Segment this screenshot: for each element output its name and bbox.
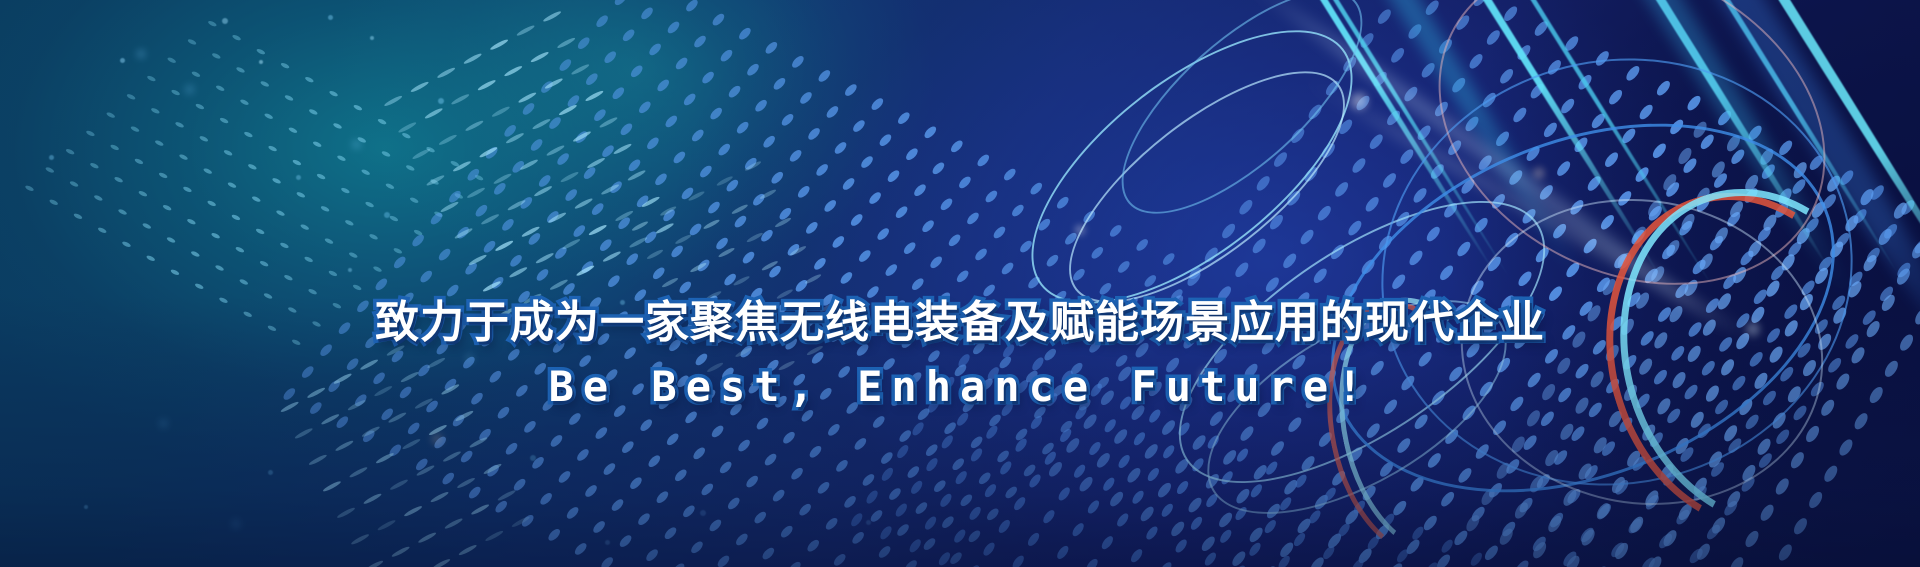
- dot-matrix-dot: [628, 476, 644, 491]
- decoration-dash-layer: [0, 0, 1920, 567]
- dot-matrix-dot: [952, 528, 968, 544]
- dot-matrix-dot: [1678, 446, 1696, 464]
- dot-matrix-dot: [1161, 444, 1177, 460]
- dot-matrix-dot: [1295, 517, 1313, 535]
- dot-matrix-dot: [146, 75, 157, 82]
- dot-matrix-dot: [1537, 183, 1555, 201]
- dot-matrix-dot: [840, 177, 856, 192]
- dash-particle: [774, 217, 792, 229]
- dot-matrix-dot: [1204, 493, 1220, 509]
- dot-matrix-dot: [1186, 496, 1204, 514]
- dot-matrix-dot: [1058, 419, 1074, 434]
- dot-matrix-dot: [740, 250, 756, 265]
- dot-matrix-dot: [1527, 475, 1545, 494]
- dot-matrix-dot: [520, 102, 536, 117]
- dot-matrix-dot: [673, 56, 689, 71]
- dot-matrix-dot: [726, 84, 742, 99]
- dot-matrix-dot: [871, 415, 887, 430]
- dash-particle: [465, 119, 485, 132]
- dot-matrix-dot: [373, 277, 389, 292]
- dot-matrix-dot: [877, 133, 893, 148]
- dot-matrix-dot: [1248, 483, 1264, 499]
- beam-cyan-5: [1307, 0, 1834, 272]
- dash-particle: [428, 424, 448, 437]
- dot-matrix-dot: [1803, 424, 1821, 443]
- dot-matrix-dot: [1572, 136, 1590, 154]
- dot-matrix-dot: [231, 34, 242, 41]
- dot-matrix-dot: [1707, 234, 1725, 252]
- dot-matrix-dot: [1661, 469, 1679, 487]
- dot-matrix-dot: [418, 269, 434, 284]
- dot-matrix-dot: [681, 504, 697, 519]
- dot-matrix-dot: [392, 247, 403, 254]
- dot-matrix-dot: [1799, 279, 1817, 297]
- dot-matrix-dot: [1709, 516, 1727, 535]
- dot-matrix-dot: [1055, 544, 1071, 560]
- dot-matrix-dot: [1312, 493, 1330, 511]
- dot-matrix-dot: [1682, 278, 1700, 297]
- dot-matrix-dot: [1561, 550, 1579, 567]
- dot-matrix-dot: [1286, 416, 1304, 434]
- dot-matrix-dot: [832, 552, 848, 567]
- dot-matrix-dot: [1207, 410, 1225, 428]
- dot-matrix-dot: [1637, 103, 1655, 121]
- dot-matrix-dot: [1263, 276, 1281, 294]
- dot-matrix-dot: [1125, 466, 1143, 484]
- dot-matrix-dot: [830, 235, 846, 250]
- dot-matrix-dot: [771, 76, 787, 91]
- dot-matrix-dot: [1142, 442, 1160, 460]
- dot-matrix-dot: [1650, 142, 1668, 160]
- dot-matrix-dot: [1740, 463, 1758, 482]
- dot-matrix-dot: [1486, 481, 1504, 499]
- dot-matrix-dot: [187, 38, 198, 45]
- dot-matrix-dot: [44, 166, 55, 173]
- dot-matrix-dot: [387, 443, 403, 458]
- dot-matrix-dot: [1520, 207, 1538, 225]
- dot-matrix-dot: [1791, 516, 1809, 535]
- dot-matrix-dot: [178, 153, 189, 160]
- dot-matrix-dot: [1406, 23, 1424, 41]
- banner-subtitle-english: Be Best, Enhance Future!: [0, 362, 1920, 412]
- dot-matrix-dot: [1185, 270, 1203, 288]
- starburst-5: [1072, 222, 1088, 238]
- dot-matrix-dot: [967, 505, 983, 521]
- bokeh-7: [384, 212, 390, 218]
- bokeh-19: [700, 510, 706, 516]
- dash-particle: [542, 10, 562, 23]
- dot-matrix-dot: [637, 100, 653, 115]
- dot-matrix-dot: [1538, 410, 1556, 428]
- dot-matrix-dot: [1271, 151, 1289, 169]
- dot-matrix-dot: [1144, 525, 1160, 541]
- dot-matrix-dot: [1064, 436, 1082, 454]
- dot-matrix-dot: [913, 501, 929, 516]
- dot-matrix-dot: [230, 214, 241, 221]
- dot-matrix-dot: [1876, 227, 1894, 246]
- dot-matrix-dot: [1306, 103, 1324, 121]
- dot-matrix-dot: [1685, 94, 1703, 112]
- dot-matrix-dot: [1094, 451, 1112, 469]
- dot-matrix-dot: [745, 62, 761, 77]
- dot-matrix-dot: [1694, 542, 1712, 561]
- dash-particle: [389, 478, 409, 491]
- beam-cyan-3: [1116, 0, 1663, 279]
- dot-matrix-dot: [381, 150, 392, 157]
- dot-matrix-dot: [696, 258, 712, 273]
- dot-matrix-dot: [1230, 550, 1248, 567]
- dash-particle: [505, 132, 525, 145]
- dash-particle: [629, 236, 649, 249]
- decoration-starburst-layer: [0, 0, 1920, 567]
- dot-matrix-dot: [1097, 281, 1113, 296]
- dot-matrix-dot: [1482, 544, 1500, 562]
- dot-matrix-dot: [97, 227, 108, 234]
- dot-matrix-dot: [1219, 470, 1235, 486]
- dot-matrix-dot: [594, 14, 610, 29]
- dash-particle: [560, 171, 580, 184]
- dot-matrix-dot: [985, 507, 1001, 522]
- dot-matrix-dot: [492, 181, 508, 196]
- dash-particle: [576, 264, 596, 277]
- bokeh-11: [160, 420, 167, 427]
- dot-matrix-dot: [1102, 418, 1118, 434]
- dot-matrix-dot: [1419, 61, 1437, 79]
- dot-matrix-dot: [606, 274, 622, 289]
- dot-matrix-dot: [779, 524, 795, 539]
- dot-matrix-dot: [243, 131, 254, 138]
- dash-particle: [561, 238, 581, 251]
- dot-matrix-dot: [826, 422, 842, 437]
- dot-matrix-dot: [1112, 428, 1130, 446]
- dash-particle: [532, 118, 552, 131]
- dot-matrix-dot: [344, 219, 355, 226]
- dot-matrix-dot: [815, 480, 831, 495]
- dot-matrix-dot: [616, 216, 632, 231]
- dot-matrix-dot: [575, 448, 591, 463]
- dot-matrix-dot: [1381, 512, 1397, 528]
- dot-matrix-dot: [1107, 490, 1125, 508]
- dash-particle: [599, 116, 619, 129]
- dot-matrix-dot: [1497, 67, 1515, 85]
- dot-matrix-dot: [1758, 503, 1776, 522]
- dot-matrix-dot: [388, 215, 399, 222]
- decoration-beam-layer: [0, 0, 1920, 567]
- dot-matrix-dot: [1534, 472, 1552, 490]
- dot-matrix-dot: [867, 191, 883, 206]
- banner-text-block: 致力于成为一家聚焦无线电装备及赋能场景应用的现代企业 Be Best, Enha…: [0, 296, 1920, 412]
- dot-matrix-dot: [539, 80, 555, 95]
- dot-matrix-dot: [1812, 266, 1830, 285]
- dot-matrix-dot: [1628, 515, 1646, 534]
- dot-matrix-dot: [805, 538, 821, 553]
- dot-matrix-dot: [1388, 46, 1406, 64]
- dot-matrix-dot: [295, 191, 306, 198]
- dash-particle: [703, 218, 721, 230]
- dot-matrix-dot: [1454, 14, 1472, 32]
- dot-matrix-dot: [682, 92, 698, 107]
- dot-matrix-dot: [950, 457, 966, 472]
- dot-matrix-dot: [1698, 133, 1716, 151]
- dot-matrix-dot: [1585, 175, 1603, 193]
- dot-matrix-dot: [484, 145, 500, 160]
- dot-matrix-dot: [601, 462, 617, 477]
- dot-matrix-dot: [1173, 457, 1191, 475]
- dash-particle: [308, 453, 328, 466]
- dot-matrix-dot: [1363, 195, 1381, 213]
- dot-matrix-dot: [279, 242, 290, 249]
- bokeh-14: [232, 520, 240, 528]
- dash-particle: [491, 105, 511, 118]
- dot-matrix-dot: [716, 142, 732, 157]
- dot-matrix-dot: [984, 424, 1000, 440]
- background-blue-core-glow: [0, 0, 1920, 567]
- dot-matrix-dot: [548, 434, 564, 449]
- dot-matrix-dot: [1264, 460, 1280, 476]
- dot-matrix-dot: [1402, 85, 1420, 103]
- dot-matrix-dot: [69, 180, 80, 187]
- dot-matrix-dot: [909, 479, 925, 495]
- dot-matrix-dot: [879, 451, 895, 466]
- dot-matrix-dot: [287, 127, 298, 134]
- dot-matrix-dot: [1278, 541, 1296, 559]
- dot-matrix-dot: [413, 229, 424, 236]
- dot-matrix-dot: [1679, 212, 1697, 231]
- dot-matrix-dot: [459, 449, 475, 464]
- dot-matrix-dot: [1852, 412, 1870, 431]
- dot-matrix-dot: [665, 432, 681, 447]
- dot-matrix-dot: [158, 172, 169, 179]
- dot-matrix-dot: [932, 479, 948, 494]
- dot-matrix-dot: [1691, 484, 1709, 502]
- dot-matrix-dot: [1602, 151, 1620, 169]
- dot-matrix-dot: [1247, 526, 1265, 544]
- dot-matrix-dot: [665, 20, 681, 35]
- dot-matrix-dot: [1485, 255, 1503, 273]
- dot-matrix-dot: [1013, 427, 1029, 442]
- dot-matrix-dot: [1582, 463, 1600, 481]
- dot-matrix-dot: [1691, 120, 1709, 139]
- dot-matrix-dot: [1722, 499, 1740, 517]
- dot-matrix-dot: [1476, 154, 1494, 172]
- dot-matrix-dot: [1624, 64, 1642, 82]
- dot-matrix-dot: [449, 160, 460, 167]
- dot-matrix-dot: [1512, 501, 1530, 520]
- dot-matrix-dot: [777, 206, 793, 221]
- dot-matrix-dot: [1071, 267, 1087, 282]
- dot-matrix-dot: [137, 190, 148, 197]
- dot-matrix-dot: [202, 167, 213, 174]
- dash-particle: [483, 462, 503, 475]
- dot-matrix-dot: [1412, 413, 1430, 431]
- dot-matrix-dot: [849, 213, 865, 228]
- dot-matrix-dot: [1647, 431, 1665, 449]
- dot-matrix-dot: [754, 416, 770, 431]
- dot-matrix-dot: [1055, 195, 1071, 210]
- dot-matrix-dot: [93, 194, 104, 201]
- dot-matrix-dot: [1247, 541, 1263, 557]
- dash-particle: [586, 157, 606, 170]
- dot-matrix-dot: [857, 249, 873, 264]
- dot-matrix-dot: [1058, 428, 1074, 444]
- dot-matrix-dot: [1315, 204, 1333, 222]
- dot-matrix-dot: [1041, 509, 1057, 525]
- dot-matrix-dot: [1630, 225, 1648, 244]
- dot-matrix-dot: [1594, 502, 1612, 521]
- dot-matrix-dot: [921, 537, 937, 552]
- dot-matrix-dot: [895, 444, 911, 460]
- background-right-vignette: [0, 0, 1920, 567]
- dot-matrix-dot: [1468, 551, 1484, 567]
- dot-matrix-dot: [1828, 240, 1846, 259]
- dash-particle: [442, 450, 462, 463]
- dot-matrix-dot: [508, 253, 524, 268]
- dot-matrix-dot: [1473, 443, 1491, 461]
- dot-matrix-dot: [1755, 225, 1773, 243]
- dot-matrix-dot: [1352, 499, 1368, 515]
- dot-matrix-dot: [1568, 198, 1586, 216]
- dot-matrix-dot: [1609, 541, 1627, 559]
- dot-matrix-dot: [644, 548, 660, 563]
- dot-matrix-dot: [206, 200, 217, 207]
- dot-matrix-dot: [896, 111, 912, 126]
- dot-matrix-dot: [133, 158, 144, 165]
- dot-matrix-dot: [1721, 424, 1739, 443]
- dot-matrix-dot: [1746, 124, 1764, 142]
- dot-matrix-dot: [1484, 29, 1502, 47]
- dot-matrix-dot: [223, 149, 234, 156]
- dot-matrix-dot: [1216, 511, 1234, 529]
- dot-matrix-dot: [210, 232, 221, 239]
- dot-matrix-dot: [259, 260, 270, 267]
- dot-matrix-dot: [1706, 450, 1724, 469]
- dot-matrix-dot: [651, 266, 667, 281]
- dot-matrix-dot: [1116, 454, 1132, 470]
- dot-matrix-dot: [1509, 435, 1527, 454]
- dot-matrix-dot: [859, 155, 875, 170]
- dot-matrix-dot: [893, 502, 909, 518]
- dot-matrix-dot: [1298, 228, 1316, 246]
- dot-matrix-dot: [834, 458, 850, 473]
- dot-matrix-dot: [868, 509, 884, 524]
- dot-matrix-dot: [1598, 213, 1616, 231]
- dot-matrix-dot: [1786, 240, 1804, 258]
- dot-matrix-dot: [1565, 487, 1583, 505]
- dot-matrix-dot: [771, 488, 787, 503]
- dot-matrix-dot: [1708, 461, 1726, 479]
- dot-matrix-dot: [879, 466, 895, 482]
- dot-matrix-dot: [109, 144, 120, 151]
- dot-matrix-dot: [1384, 109, 1402, 127]
- dot-matrix-dot: [1311, 267, 1329, 285]
- dot-matrix-dot: [1711, 172, 1729, 190]
- dot-matrix-dot: [969, 447, 985, 463]
- dot-matrix-dot: [1398, 148, 1416, 166]
- dot-matrix-dot: [1576, 73, 1594, 91]
- dot-matrix-dot: [1816, 255, 1834, 273]
- orbit-ring-6: [1336, 9, 1898, 535]
- dot-matrix-dot: [1742, 187, 1760, 205]
- dash-particle: [521, 225, 541, 238]
- dot-matrix-dot: [1728, 555, 1746, 567]
- dash-particle: [655, 222, 675, 235]
- dot-matrix-dot: [645, 136, 661, 151]
- dot-matrix-dot: [714, 236, 730, 251]
- dot-matrix-dot: [876, 545, 892, 560]
- dot-matrix-dot: [291, 159, 302, 166]
- dot-matrix-dot: [781, 430, 797, 445]
- dot-matrix-dot: [219, 117, 230, 124]
- dot-matrix-dot: [1790, 178, 1808, 196]
- dot-matrix-dot: [1613, 478, 1631, 496]
- dot-matrix-dot: [1394, 210, 1412, 228]
- dash-particle: [350, 533, 370, 546]
- dot-matrix-dot: [1612, 541, 1630, 560]
- dot-matrix-dot: [113, 176, 124, 183]
- dot-matrix-dot: [340, 187, 351, 194]
- dash-particle: [571, 63, 591, 76]
- dot-matrix-dot: [669, 244, 685, 259]
- dot-matrix-dot: [307, 288, 318, 295]
- dot-matrix-dot: [271, 177, 282, 184]
- dash-particle: [484, 530, 504, 543]
- dot-matrix-dot: [1480, 91, 1498, 109]
- dash-particle: [349, 466, 369, 479]
- dot-matrix-dot: [316, 173, 327, 180]
- beam-glow-2: [1332, 0, 1868, 312]
- dot-matrix-dot: [1365, 535, 1381, 551]
- dot-matrix-dot: [432, 435, 448, 450]
- dot-matrix-dot: [1743, 173, 1761, 192]
- dot-matrix-dot: [1439, 490, 1457, 508]
- dot-matrix-dot: [1323, 79, 1341, 97]
- dot-matrix-dot: [414, 457, 430, 472]
- dot-matrix-dot: [679, 186, 695, 201]
- dot-matrix-dot: [1564, 261, 1582, 279]
- dot-matrix-dot: [718, 460, 734, 475]
- dot-matrix-dot: [1776, 187, 1794, 206]
- dot-matrix-dot: [1411, 186, 1429, 204]
- dot-matrix-dot: [1658, 463, 1676, 482]
- dot-matrix-dot: [1643, 489, 1661, 508]
- dash-particle: [516, 24, 536, 37]
- hero-banner: 致力于成为一家聚焦无线电装备及赋能场景应用的现代企业 Be Best, Enha…: [0, 0, 1920, 567]
- dot-matrix-dot: [785, 242, 801, 257]
- dot-matrix-dot: [1837, 438, 1855, 457]
- dot-matrix-dot: [618, 122, 634, 137]
- dash-particle: [363, 492, 383, 505]
- dot-matrix-dot: [1455, 240, 1473, 258]
- dot-matrix-dot: [849, 512, 865, 528]
- dash-particle: [688, 190, 706, 202]
- dot-matrix-dot: [966, 529, 982, 544]
- dot-matrix-dot: [671, 150, 687, 165]
- dot-matrix-dot: [428, 211, 444, 226]
- dash-particle: [497, 489, 517, 502]
- dot-matrix-dot: [1145, 467, 1161, 483]
- dot-matrix-dot: [162, 204, 173, 211]
- dot-matrix-dot: [710, 12, 726, 27]
- dot-matrix-dot: [553, 246, 569, 261]
- dot-matrix-dot: [958, 493, 974, 508]
- dash-particle: [377, 519, 397, 532]
- dot-matrix-dot: [1115, 512, 1131, 528]
- dot-matrix-dot: [401, 132, 412, 139]
- dot-matrix-dot: [610, 86, 626, 101]
- bokeh-18: [348, 268, 352, 272]
- dot-matrix-dot: [1330, 469, 1348, 487]
- dot-matrix-dot: [584, 72, 600, 87]
